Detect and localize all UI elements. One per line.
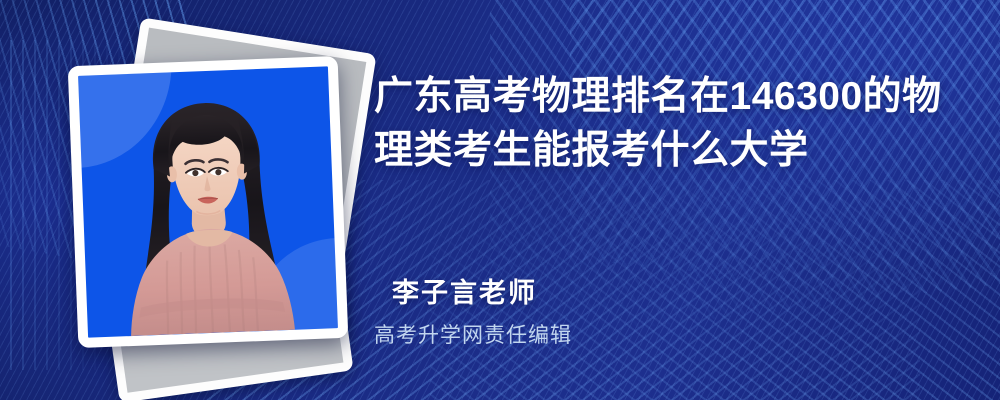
- author-name: 李子言老师: [392, 271, 537, 310]
- author-portrait: [89, 79, 328, 338]
- banner-text-block: 广东高考物理排名在146300的物理类考生能报考什么大学 李子言老师 高考升学网…: [374, 0, 974, 400]
- photo-stack: [62, 36, 362, 366]
- author-photo-card: [68, 56, 349, 348]
- author-role: 高考升学网责任编辑: [374, 319, 572, 349]
- article-banner: 广东高考物理排名在146300的物理类考生能报考什么大学 李子言老师 高考升学网…: [0, 0, 1000, 400]
- page-title: 广东高考物理排名在146300的物理类考生能报考什么大学: [374, 70, 964, 178]
